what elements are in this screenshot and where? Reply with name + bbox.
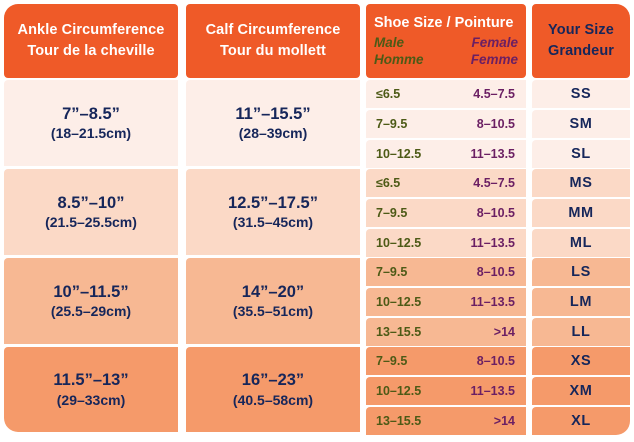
ankle-circumference-cell: 10”–11.5”(25.5–29cm) — [4, 258, 178, 344]
your-size-cell: SM — [532, 110, 630, 138]
header-your-size-en: Your Size — [548, 20, 614, 41]
shoe-size-female: 8–10.5 — [477, 265, 515, 279]
calf-inches: 14”–20” — [242, 282, 304, 303]
header-shoe-size: Shoe Size / Pointure Male Female Homme F… — [366, 4, 526, 78]
shoe-size-cell: 10–12.511–13.5 — [366, 377, 526, 405]
shoe-size-female: 11–13.5 — [471, 384, 516, 398]
header-male-fr: Homme — [374, 51, 424, 69]
calf-circumference-cell: 16”–23”(40.5–58cm) — [186, 347, 360, 432]
shoe-size-cell: 10–12.511–13.5 — [366, 288, 526, 316]
your-size-cell: XS — [532, 347, 630, 375]
calf-circumference-cell: 14”–20”(35.5–51cm) — [186, 258, 360, 344]
ankle-cm: (25.5–29cm) — [51, 302, 131, 320]
shoe-size-male: 7–9.5 — [376, 354, 407, 368]
header-ankle-circumference: Ankle Circumference Tour de la cheville — [4, 4, 178, 78]
your-size-cell: LM — [532, 288, 630, 316]
shoe-size-cell: 10–12.511–13.5 — [366, 140, 526, 168]
header-calf-en: Calf Circumference — [206, 20, 341, 41]
shoe-size-female: >14 — [494, 325, 515, 339]
header-female-en: Female — [471, 34, 518, 52]
ankle-cm: (29–33cm) — [57, 391, 126, 409]
your-size-cell: MM — [532, 199, 630, 227]
your-size-cell: MS — [532, 169, 630, 197]
shoe-size-female: 4.5–7.5 — [473, 176, 515, 190]
shoe-size-female: 8–10.5 — [477, 206, 515, 220]
ankle-inches: 10”–11.5” — [53, 282, 128, 303]
header-shoe-size-fr-row: Homme Femme — [374, 51, 518, 69]
header-calf-fr: Tour du mollett — [220, 41, 326, 62]
header-shoe-size-title: Shoe Size / Pointure — [374, 14, 518, 33]
shoe-size-male: 10–12.5 — [376, 147, 421, 161]
shoe-size-male: ≤6.5 — [376, 176, 400, 190]
shoe-size-male: 10–12.5 — [376, 236, 421, 250]
shoe-size-cell: 7–9.58–10.5 — [366, 199, 526, 227]
ankle-circumference-cell: 8.5”–10”(21.5–25.5cm) — [4, 169, 178, 255]
shoe-size-male: ≤6.5 — [376, 87, 400, 101]
shoe-size-female: 8–10.5 — [477, 354, 515, 368]
your-size-cell: LL — [532, 318, 630, 346]
header-calf-circumference: Calf Circumference Tour du mollett — [186, 4, 360, 78]
shoe-size-cell: 13–15.5>14 — [366, 407, 526, 435]
calf-cm: (35.5–51cm) — [233, 302, 313, 320]
your-size-cell: SS — [532, 80, 630, 108]
ankle-inches: 7”–8.5” — [62, 104, 120, 125]
calf-cm: (40.5–58cm) — [233, 391, 313, 409]
shoe-size-cell: 7–9.58–10.5 — [366, 347, 526, 375]
ankle-circumference-cell: 7”–8.5”(18–21.5cm) — [4, 80, 178, 166]
header-your-size: Your Size Grandeur — [532, 4, 630, 78]
header-ankle-en: Ankle Circumference — [18, 20, 165, 41]
your-size-cell: ML — [532, 229, 630, 257]
ankle-cm: (18–21.5cm) — [51, 124, 131, 142]
ankle-inches: 11.5”–13” — [53, 370, 128, 391]
calf-circumference-cell: 12.5”–17.5”(31.5–45cm) — [186, 169, 360, 255]
calf-inches: 12.5”–17.5” — [228, 193, 318, 214]
shoe-size-male: 13–15.5 — [376, 414, 421, 428]
header-your-size-fr: Grandeur — [548, 41, 614, 62]
shoe-size-cell: 10–12.511–13.5 — [366, 229, 526, 257]
shoe-size-cell: ≤6.54.5–7.5 — [366, 80, 526, 108]
shoe-size-male: 7–9.5 — [376, 265, 407, 279]
your-size-cell: LS — [532, 258, 630, 286]
shoe-size-male: 10–12.5 — [376, 384, 421, 398]
calf-circumference-cell: 11”–15.5”(28–39cm) — [186, 80, 360, 166]
header-male-en: Male — [374, 34, 404, 52]
table-header-row: Ankle Circumference Tour de la cheville … — [0, 4, 634, 78]
shoe-size-female: 11–13.5 — [471, 147, 516, 161]
header-female-fr: Femme — [471, 51, 518, 69]
shoe-size-male: 7–9.5 — [376, 206, 407, 220]
shoe-size-female: >14 — [494, 414, 515, 428]
your-size-cell: SL — [532, 140, 630, 168]
shoe-size-female: 8–10.5 — [477, 117, 515, 131]
calf-cm: (28–39cm) — [239, 124, 308, 142]
shoe-size-female: 11–13.5 — [471, 295, 516, 309]
header-shoe-size-en-row: Male Female — [374, 34, 518, 52]
shoe-size-male: 7–9.5 — [376, 117, 407, 131]
calf-inches: 11”–15.5” — [235, 104, 310, 125]
calf-cm: (31.5–45cm) — [233, 213, 313, 231]
shoe-size-male: 10–12.5 — [376, 295, 421, 309]
header-ankle-fr: Tour de la cheville — [27, 41, 154, 62]
ankle-cm: (21.5–25.5cm) — [45, 213, 137, 231]
table-body: 7”–8.5”(18–21.5cm)11”–15.5”(28–39cm)≤6.5… — [0, 80, 634, 438]
shoe-size-cell: 13–15.5>14 — [366, 318, 526, 346]
ankle-circumference-cell: 11.5”–13”(29–33cm) — [4, 347, 178, 432]
shoe-size-female: 11–13.5 — [471, 236, 516, 250]
shoe-size-male: 13–15.5 — [376, 325, 421, 339]
shoe-size-cell: 7–9.58–10.5 — [366, 110, 526, 138]
shoe-size-female: 4.5–7.5 — [473, 87, 515, 101]
shoe-size-cell: ≤6.54.5–7.5 — [366, 169, 526, 197]
ankle-inches: 8.5”–10” — [58, 193, 125, 214]
your-size-cell: XM — [532, 377, 630, 405]
your-size-cell: XL — [532, 407, 630, 435]
size-chart-table: Ankle Circumference Tour de la cheville … — [0, 0, 634, 442]
shoe-size-cell: 7–9.58–10.5 — [366, 258, 526, 286]
calf-inches: 16”–23” — [242, 370, 304, 391]
